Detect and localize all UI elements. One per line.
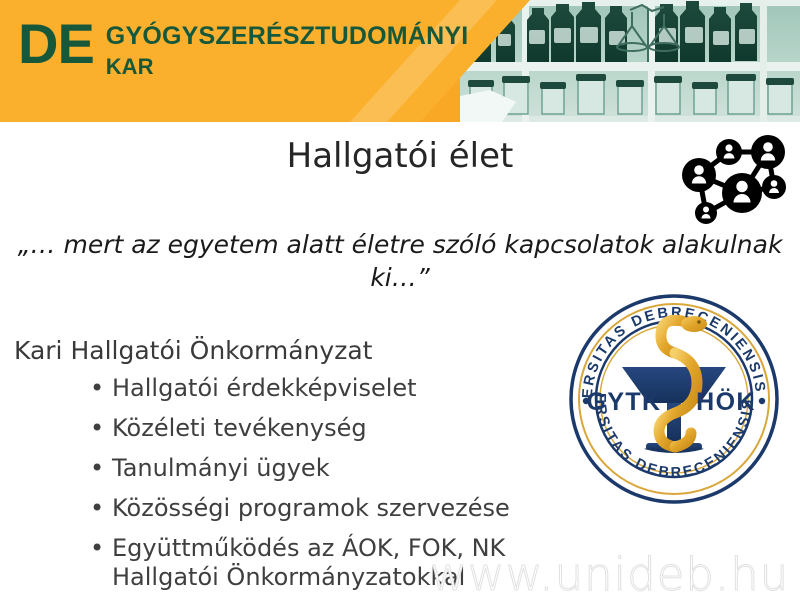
seal-left-label: GYTK — [586, 388, 661, 416]
list-item-label: Közösségi programok szervezése — [112, 494, 510, 522]
bullet-dot: • — [90, 494, 104, 523]
university-logo: DE GYÓGYSZERÉSZTUDOMÁNYI KAR — [18, 16, 468, 80]
watermark-url: www.unideb.hu — [430, 551, 789, 599]
logo-faculty-line1: GYÓGYSZERÉSZTUDOMÁNYI — [106, 22, 469, 50]
quote-text: „… mert az egyetem alatt életre szóló ka… — [14, 228, 786, 294]
seal-right-label: HÖK — [696, 387, 756, 416]
logo-faculty-line2: KAR — [106, 54, 469, 80]
list-item-label: Hallgatói érdekképviselet — [112, 374, 417, 402]
logo-faculty-name: GYÓGYSZERÉSZTUDOMÁNYI KAR — [106, 16, 469, 80]
logo-abbreviation: DE — [18, 16, 94, 72]
body-heading: Kari Hallgatói Önkormányzat — [14, 336, 574, 366]
list-item: • Hallgatói érdekképviselet — [90, 374, 574, 403]
bullet-dot: • — [90, 374, 104, 403]
bullet-dot: • — [90, 414, 104, 443]
list-item-label: Közéleti tevékenység — [112, 414, 367, 442]
bullet-dot: • — [90, 534, 104, 563]
bullet-dot: • — [90, 454, 104, 483]
list-item-label: Tanulmányi ügyek — [112, 454, 330, 482]
list-item: • Tanulmányi ügyek — [90, 454, 574, 483]
list-item: • Közéleti tevékenység — [90, 414, 574, 443]
header-banner: DE GYÓGYSZERÉSZTUDOMÁNYI KAR — [0, 0, 800, 122]
gytk-hok-seal: UNIVERSITAS DEBRECENIENSIS 1912 UNIVERSI… — [566, 291, 782, 507]
people-network-icon — [672, 131, 790, 224]
list-item: • Közösségi programok szervezése — [90, 494, 574, 523]
slide: DE GYÓGYSZERÉSZTUDOMÁNYI KAR Hallgatói é… — [0, 0, 800, 600]
